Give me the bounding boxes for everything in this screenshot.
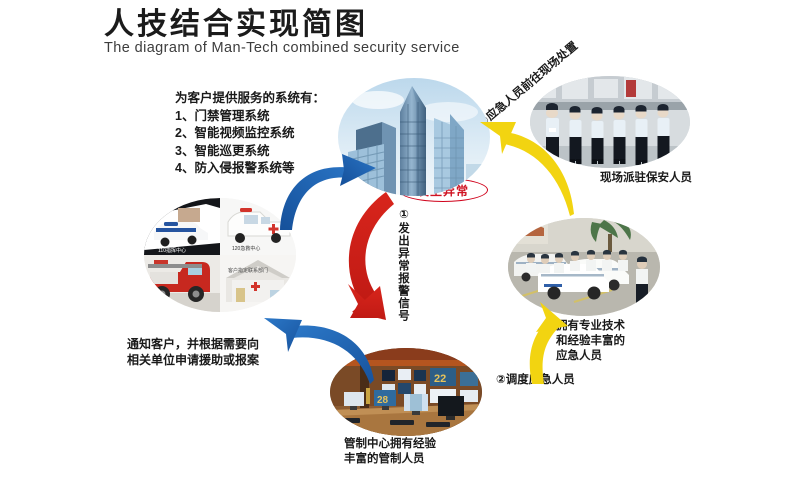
page-subtitle: The diagram of Man-Tech combined securit… — [104, 40, 460, 56]
control-center-caption: 管制中心拥有经验 丰富的管制人员 — [344, 437, 436, 467]
guards-caption: 现场派驻保安人员 — [600, 169, 692, 185]
emergency-vehicles-collage-photo: 110指挥中心 120急救中心 — [144, 198, 296, 312]
svg-text:120急救中心: 120急救中心 — [232, 245, 260, 252]
responders-caption: 拥有专业技术 和经验丰富的 应急人员 — [556, 319, 625, 364]
notify-customer-text: 通知客户，并根据需要向 相关单位申请援助或报案 — [127, 336, 259, 368]
diagram-canvas: 人技结合实现简图 The diagram of Man-Tech combine… — [0, 0, 802, 477]
step1-alarm-signal-label: ①发出异常报警信号 — [394, 207, 409, 322]
svg-text:22: 22 — [434, 373, 446, 385]
security-guards-lineup-photo — [530, 76, 690, 168]
skyscraper-photo — [338, 78, 490, 196]
step2-dispatch-label: ②调度应急人员 — [496, 371, 575, 387]
control-room-photo: 22 28 — [330, 348, 482, 436]
svg-text:客户指定联系部门: 客户指定联系部门 — [228, 267, 268, 274]
patrol-cars-photo — [508, 218, 660, 316]
svg-text:28: 28 — [377, 395, 389, 406]
systems-list-text: 为客户提供服务的系统有： 1、门禁管理系统 2、智能视频监控系统 3、智能巡更系… — [175, 90, 325, 178]
svg-text:110指挥中心: 110指挥中心 — [158, 247, 186, 254]
page-title: 人技结合实现简图 — [104, 8, 368, 42]
